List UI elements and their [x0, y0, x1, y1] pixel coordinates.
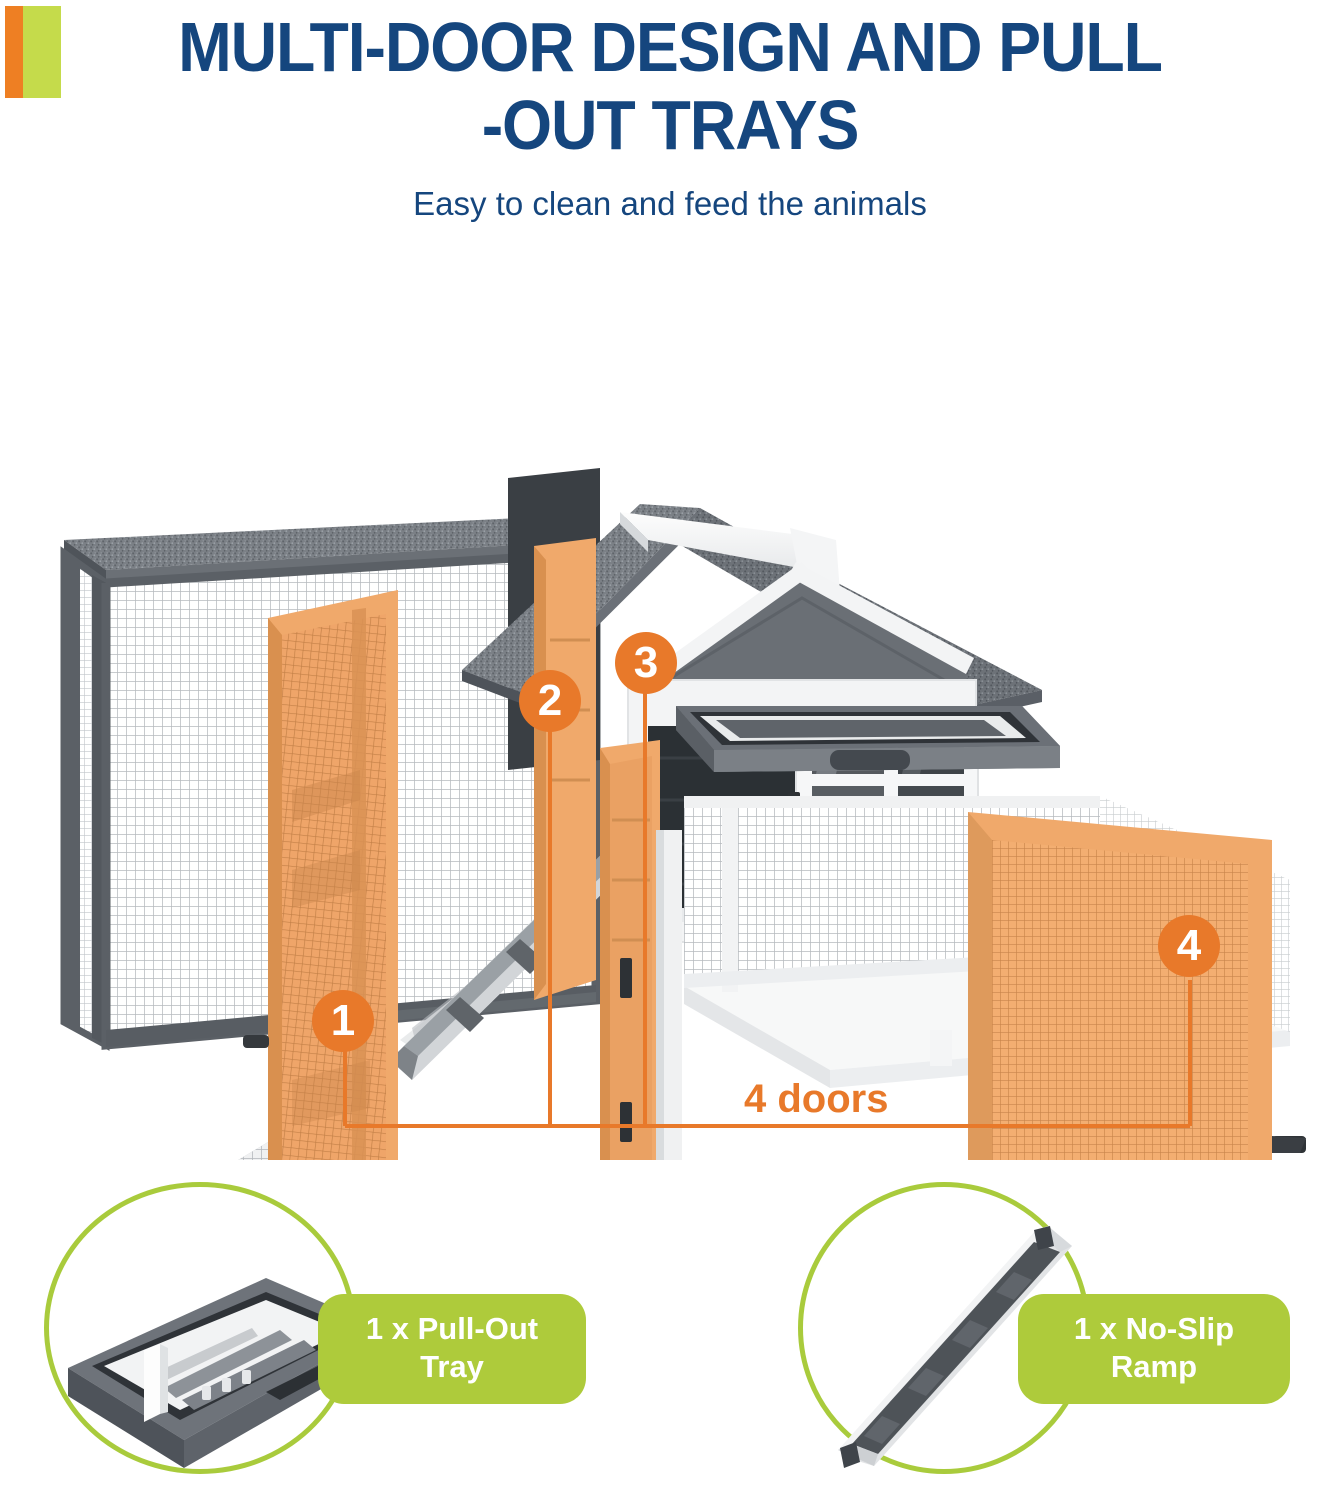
accessory-label-left: 1 x Pull-Out Tray [318, 1294, 586, 1404]
callout-badge-3[interactable]: 3 [615, 632, 677, 694]
accessory-label-right: 1 x No-Slip Ramp [1018, 1294, 1290, 1404]
callout-badge-1[interactable]: 1 [312, 990, 374, 1052]
accent-stripe-orange [5, 6, 23, 98]
accessory-no-slip-ramp: 1 x No-Slip Ramp [770, 1176, 1330, 1486]
door-3-panel [600, 740, 660, 1160]
accessory-label-right-line2: Ramp [1111, 1349, 1197, 1384]
callout-badge-4[interactable]: 4 [1158, 915, 1220, 977]
page-title-line1: MULTI-DOOR DESIGN AND PULL [54, 8, 1287, 86]
door-2-panel [534, 538, 596, 1000]
accessory-label-left-line1: 1 x Pull-Out [366, 1311, 538, 1346]
accessory-pull-out-tray: 1 x Pull-Out Tray [18, 1176, 638, 1486]
callout-badge-2[interactable]: 2 [519, 670, 581, 732]
door-4-panel [968, 812, 1306, 1160]
tray-handle-grip [830, 750, 910, 770]
page-subtitle: Easy to clean and feed the animals [0, 184, 1340, 224]
accessory-label-left-line2: Tray [420, 1349, 484, 1384]
page-title-line2: -OUT TRAYS [54, 86, 1287, 164]
page-title: MULTI-DOOR DESIGN AND PULL -OUT TRAYS [54, 8, 1287, 164]
accessory-label-right-line1: 1 x No-Slip [1074, 1311, 1234, 1346]
header: MULTI-DOOR DESIGN AND PULL -OUT TRAYS Ea… [0, 0, 1340, 240]
hinge-icon [620, 958, 632, 998]
infographic-page: MULTI-DOOR DESIGN AND PULL -OUT TRAYS Ea… [0, 0, 1340, 1500]
accent-bar [5, 6, 61, 98]
hinge-icon [620, 1102, 632, 1142]
doors-count-label: 4 doors [744, 1077, 888, 1122]
pull-out-tray [676, 706, 1060, 772]
product-illustration [0, 240, 1340, 1160]
